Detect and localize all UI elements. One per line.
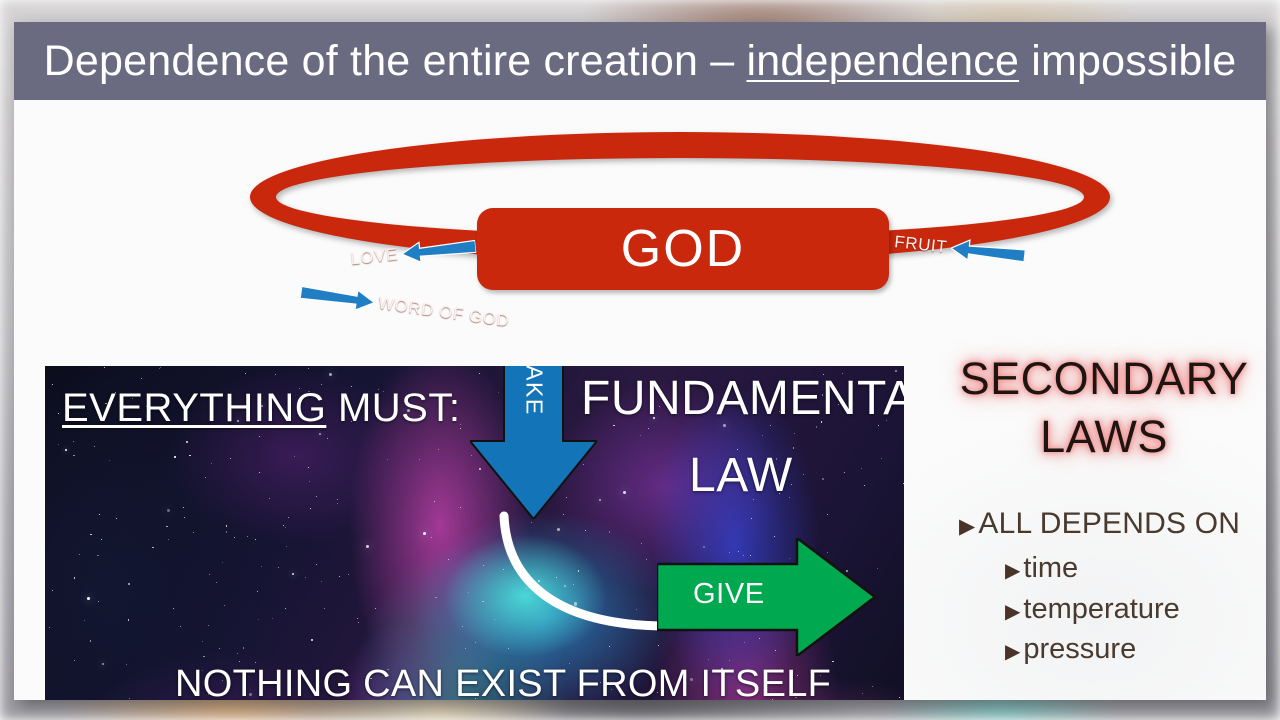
arrow-right-icon (657, 538, 875, 656)
must-word: MUST: (326, 386, 460, 430)
list-item-label: pressure (1023, 632, 1136, 666)
list-item: ▶ ALL DEPENDS ON (959, 506, 1266, 541)
take-arrow: TAKE (470, 366, 597, 519)
ring-item-word-of-god: WORD OF GOD (299, 281, 510, 332)
ring-label-love: LOVE (349, 245, 399, 270)
everything-word: EVERYTHING (62, 386, 326, 430)
list-item: ▶ time (1005, 551, 1266, 585)
give-arrow: GIVE (657, 538, 875, 656)
list-item: ▶ temperature (1005, 592, 1266, 626)
list-item-label: temperature (1023, 592, 1179, 626)
take-label: TAKE (520, 366, 547, 416)
secondary-laws-heading: SECONDARY LAWS (939, 350, 1266, 466)
everything-must-label: EVERYTHING MUST: (62, 386, 460, 431)
god-label: GOD (621, 219, 745, 279)
bullet-triangle-icon: ▶ (1005, 602, 1020, 622)
bullet-triangle-icon: ▶ (1005, 561, 1020, 581)
universe-image: EVERYTHING MUST: FUNDAMENTAL LAW TAKE GI… (45, 366, 904, 700)
title-suffix: impossible (1019, 37, 1236, 85)
list-item-label: ALL DEPENDS ON (978, 506, 1240, 541)
page-title: Dependence of the entire creation – inde… (44, 37, 1237, 86)
ring-label-word-of-god: WORD OF GOD (377, 293, 511, 331)
ring-label-fruit: FRUIT (893, 232, 948, 257)
bullet-triangle-icon: ▶ (959, 516, 975, 537)
fundamental-law-line2: LAW (689, 448, 793, 503)
god-box: GOD (477, 208, 889, 290)
title-underlined-word: independence (746, 37, 1019, 85)
secondary-laws-bullet-list: ▶ ALL DEPENDS ON ▶ time ▶ temperature ▶ … (939, 506, 1266, 666)
slide-title-bar: Dependence of the entire creation – inde… (14, 22, 1266, 100)
fundamental-law-line1: FUNDAMENTAL (581, 371, 904, 426)
title-prefix: Dependence of the entire creation – (44, 37, 747, 85)
can-exist-from-itself: CAN EXIST FROM ITSELF (352, 663, 831, 700)
secondary-laws-panel: SECONDARY LAWS ▶ ALL DEPENDS ON ▶ time ▶… (939, 350, 1266, 672)
arrow-right-icon (299, 281, 375, 313)
list-item-label: time (1023, 551, 1078, 585)
secondary-laws-line2: LAWS (939, 408, 1266, 466)
secondary-laws-line1: SECONDARY (939, 350, 1266, 408)
list-item: ▶ pressure (1005, 632, 1266, 666)
nothing-can-exist-label: NOTHING CAN EXIST FROM ITSELF (175, 663, 831, 700)
bullet-triangle-icon: ▶ (1005, 642, 1020, 662)
slide-content-area: LOVE FRUIT WORD OF GOD GOD EVERYTHI (14, 100, 1266, 700)
presentation-slide: Dependence of the entire creation – inde… (14, 22, 1266, 700)
give-label: GIVE (693, 578, 765, 611)
nothing-word: NOTHING (175, 663, 352, 700)
